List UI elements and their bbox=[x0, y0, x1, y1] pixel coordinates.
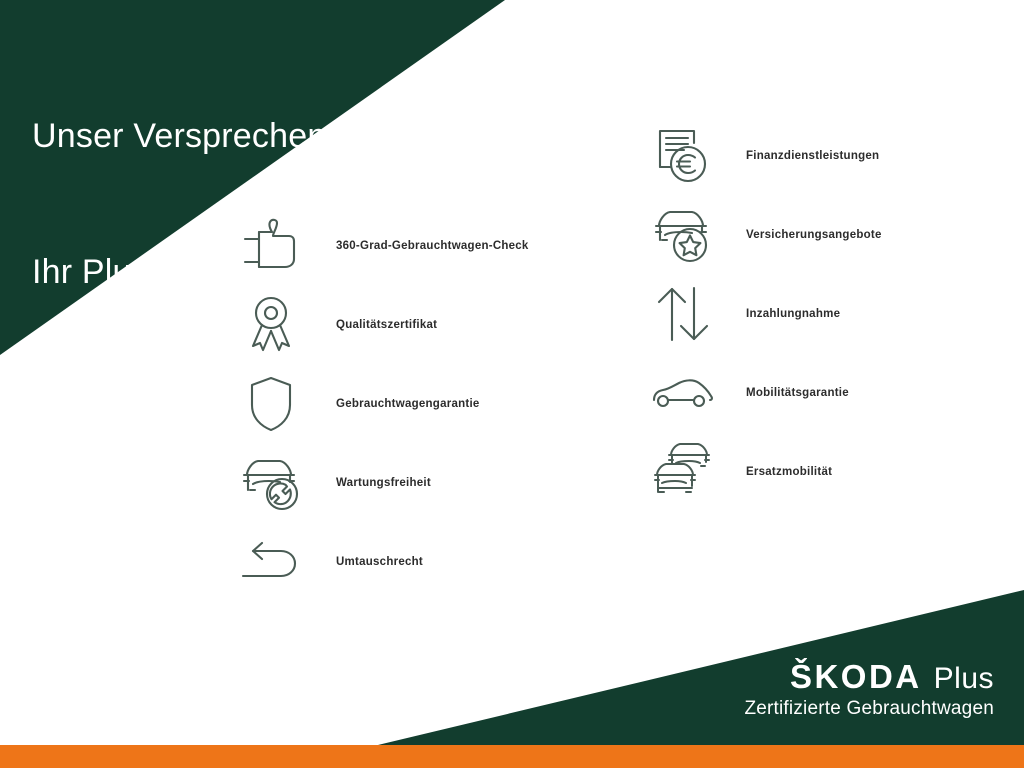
feature-label: Umtauschrecht bbox=[336, 556, 423, 568]
feature-label: Finanzdienstleistungen bbox=[746, 150, 879, 162]
up-down-arrows-icon bbox=[650, 283, 716, 345]
two-cars-icon bbox=[650, 441, 716, 503]
brand-lockup: ŠKODA Plus Zertifizierte Gebrauchtwagen bbox=[744, 658, 994, 720]
feature-label: Inzahlungnahme bbox=[746, 308, 840, 320]
feature-item-replacement-mobility: Ersatzmobilität bbox=[650, 432, 882, 511]
plus-wordmark: Plus bbox=[934, 662, 994, 696]
feature-list-left: 360-Grad-Gebrauchtwagen-Check Qualitätsz… bbox=[238, 206, 529, 601]
feature-item-mobility-guarantee: Mobilitätsgarantie bbox=[650, 353, 882, 432]
feature-label: Gebrauchtwagengarantie bbox=[336, 398, 480, 410]
feature-label: Ersatzmobilität bbox=[746, 466, 832, 478]
document-euro-icon bbox=[650, 125, 716, 187]
feature-item-warranty: Gebrauchtwagengarantie bbox=[238, 364, 529, 443]
brand-primary-line: ŠKODA Plus bbox=[744, 658, 994, 696]
skoda-wordmark: ŠKODA bbox=[790, 658, 922, 696]
car-side-icon bbox=[650, 362, 716, 424]
feature-label: Mobilitätsgarantie bbox=[746, 387, 849, 399]
shield-icon bbox=[238, 373, 304, 435]
thumbs-up-icon bbox=[238, 215, 304, 277]
feature-item-quality-certificate: Qualitätszertifikat bbox=[238, 285, 529, 364]
feature-label: Qualitätszertifikat bbox=[336, 319, 437, 331]
feature-item-360-check: 360-Grad-Gebrauchtwagen-Check bbox=[238, 206, 529, 285]
feature-item-trade-in: Inzahlungnahme bbox=[650, 274, 882, 353]
return-arrow-icon bbox=[238, 531, 304, 593]
feature-label: 360-Grad-Gebrauchtwagen-Check bbox=[336, 240, 529, 252]
brand-subtitle: Zertifizierte Gebrauchtwagen bbox=[744, 698, 994, 720]
car-wrench-icon bbox=[238, 452, 304, 514]
award-rosette-icon bbox=[238, 294, 304, 356]
feature-item-insurance-offers: Versicherungsangebote bbox=[650, 195, 882, 274]
feature-item-maintenance-free: Wartungsfreiheit bbox=[238, 443, 529, 522]
feature-item-right-of-exchange: Umtauschrecht bbox=[238, 522, 529, 601]
promo-banner: Unser Versprechen. Ihr Plus. 360-Grad-Ge… bbox=[0, 0, 1024, 768]
headline-line-1: Unser Versprechen. bbox=[32, 114, 336, 159]
feature-label: Versicherungsangebote bbox=[746, 229, 882, 241]
car-star-icon bbox=[650, 204, 716, 266]
feature-label: Wartungsfreiheit bbox=[336, 477, 431, 489]
orange-footer-bar bbox=[0, 745, 1024, 768]
feature-list-right: Finanzdienstleistungen Versicherungsange… bbox=[650, 116, 882, 511]
feature-item-financial-services: Finanzdienstleistungen bbox=[650, 116, 882, 195]
